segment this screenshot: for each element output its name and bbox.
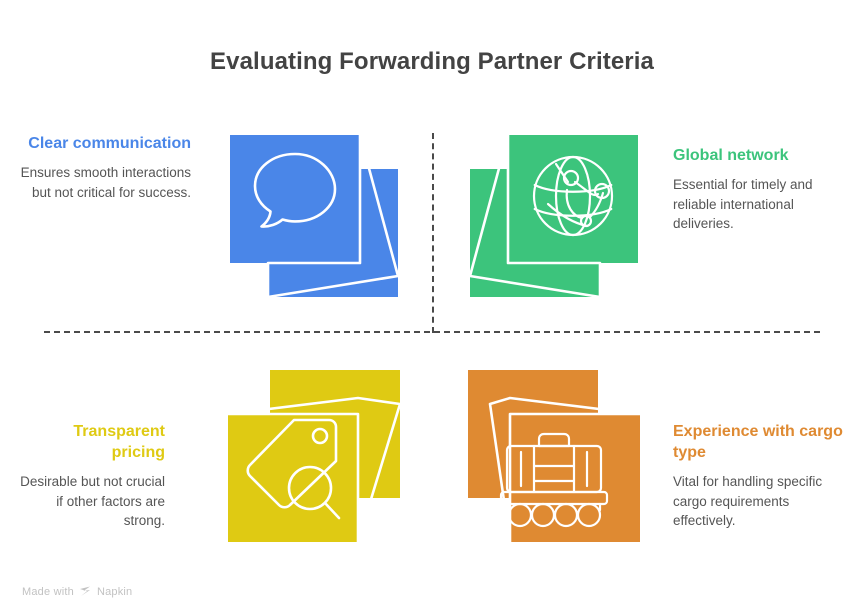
quadrant-text-global-network: Global network Essential for timely and … xyxy=(673,145,851,234)
quadrant-body-clear-communication: Ensures smooth interactions but not crit… xyxy=(18,163,191,202)
quadrant-heading-experience-with-cargo-type: Experience with cargo type xyxy=(673,421,853,463)
page-title: Evaluating Forwarding Partner Criteria xyxy=(0,48,864,76)
quadrant-heading-global-network: Global network xyxy=(673,145,851,166)
icon-group-clear-communication xyxy=(230,135,398,297)
icon-group-transparent-pricing xyxy=(228,370,400,542)
watermark-prefix: Made with xyxy=(22,586,74,598)
quadrant-body-experience-with-cargo-type: Vital for handling specific cargo requir… xyxy=(673,472,853,531)
cargo-wagon-icon xyxy=(468,370,640,542)
infographic-canvas: Evaluating Forwarding Partner Criteria C… xyxy=(0,0,864,612)
quadrant-body-global-network: Essential for timely and reliable intern… xyxy=(673,175,851,234)
globe-network-icon xyxy=(470,135,638,263)
price-tag-search-icon xyxy=(228,370,400,542)
vertical-divider xyxy=(432,133,434,333)
speech-bubble-icon xyxy=(230,135,360,263)
quadrant-heading-clear-communication: Clear communication xyxy=(18,133,191,154)
icon-group-experience-with-cargo-type xyxy=(468,370,640,542)
quadrant-text-transparent-pricing: Transparent pricing Desirable but not cr… xyxy=(18,421,165,531)
quadrant-body-transparent-pricing: Desirable but not crucial if other facto… xyxy=(18,472,165,531)
icon-group-global-network xyxy=(470,135,638,297)
quadrant-text-clear-communication: Clear communication Ensures smooth inter… xyxy=(18,133,191,202)
napkin-logo-icon xyxy=(79,585,92,598)
watermark: Made with Napkin xyxy=(22,585,132,598)
watermark-brand: Napkin xyxy=(97,586,132,598)
quadrant-text-experience-with-cargo-type: Experience with cargo type Vital for han… xyxy=(673,421,853,531)
quadrant-heading-transparent-pricing: Transparent pricing xyxy=(18,421,165,463)
